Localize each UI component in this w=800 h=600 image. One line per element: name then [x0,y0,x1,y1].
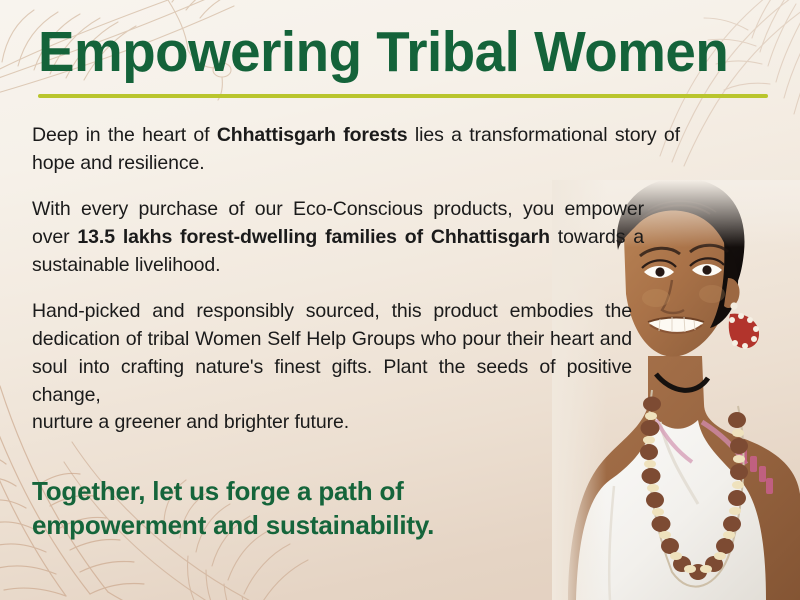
paragraph-3-tail: nurture a greener and brighter future. [32,409,632,437]
poster-canvas: Empowering Tribal Women [0,0,800,600]
paragraph-2: With every purchase of our Eco-Conscious… [32,196,644,279]
title-underline-rule [38,94,768,98]
paragraph-1: Deep in the heart of Chhattisgarh forest… [32,122,680,177]
title-block: Empowering Tribal Women [38,22,778,98]
paragraph-3: Hand-picked and responsibly sourced, thi… [32,298,632,436]
paragraph-1-bold: Chhattisgarh forests [217,124,408,146]
body-copy: Deep in the heart of Chhattisgarh forest… [32,122,680,456]
paragraph-3-main: Hand-picked and responsibly sourced, thi… [32,300,632,405]
page-title: Empowering Tribal Women [38,22,748,84]
paragraph-1-lead: Deep in the heart of [32,124,217,146]
closing-statement: Together, let us forge a path of empower… [32,474,552,543]
paragraph-2-bold: 13.5 lakhs forest-dwelling families of C… [77,226,550,248]
